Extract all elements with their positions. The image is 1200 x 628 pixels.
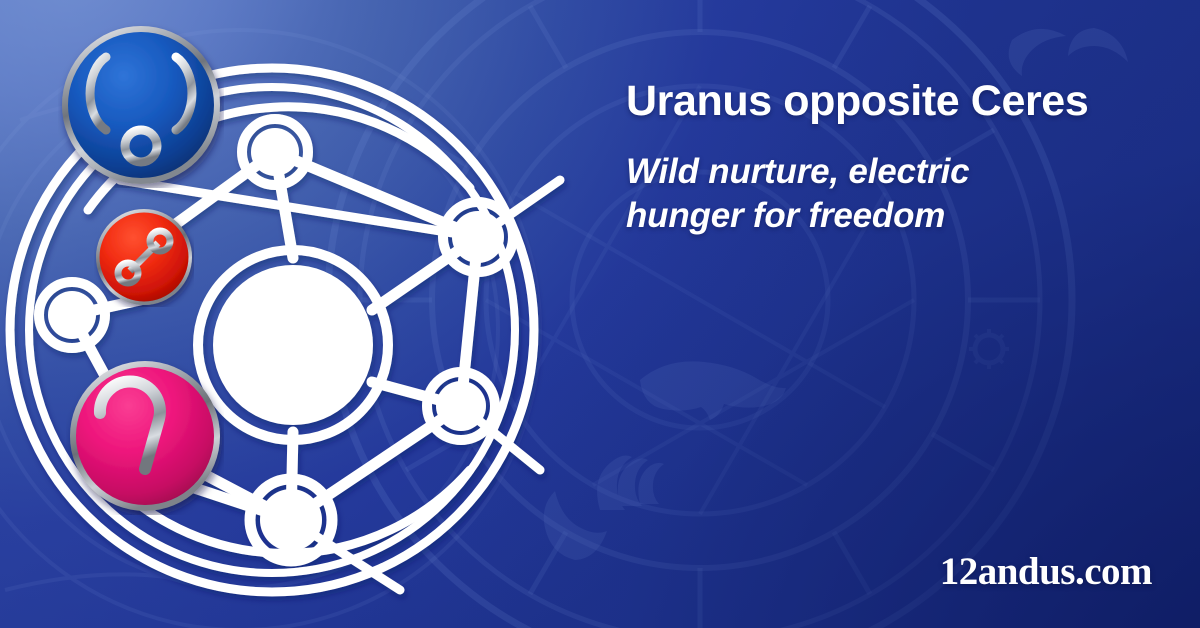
page-subtitle: Wild nurture, electric hunger for freedo… bbox=[626, 150, 1056, 238]
astrology-aspect-card: Uranus opposite Ceres Wild nurture, elec… bbox=[0, 0, 1200, 628]
opposition-aspect-badge bbox=[94, 207, 194, 307]
headline-block: Uranus opposite Ceres Wild nurture, elec… bbox=[626, 78, 1171, 238]
ceres-planet-badge bbox=[66, 357, 224, 515]
page-title: Uranus opposite Ceres bbox=[626, 78, 1171, 124]
site-brand-label[interactable]: 12andus.com bbox=[940, 549, 1152, 594]
uranus-planet-badge bbox=[58, 22, 224, 188]
